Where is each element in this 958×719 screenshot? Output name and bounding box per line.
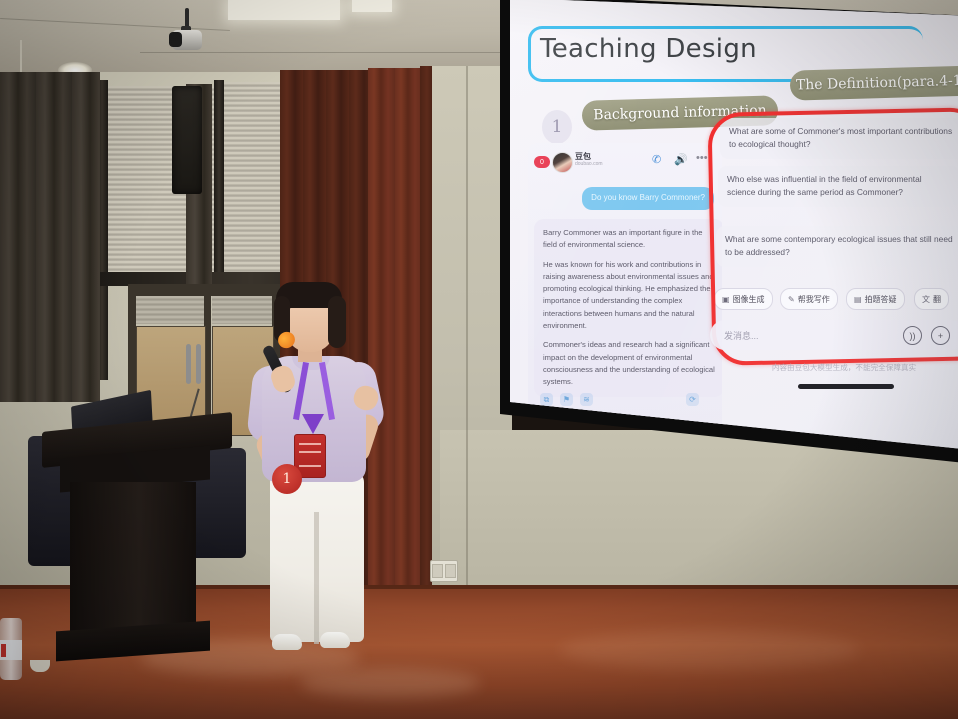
step-number-badge: 1 <box>542 110 572 144</box>
floor-reflection <box>560 630 860 670</box>
projection-screen: Teaching Design 1 Background information… <box>496 0 958 474</box>
screen-surface: Teaching Design 1 Background information… <box>510 0 958 460</box>
thumbs-up-icon[interactable]: ⚑ <box>560 393 573 406</box>
bot-subtitle: doubao.com <box>575 161 603 167</box>
lecture-hall-photo: Teaching Design 1 Background information… <box>0 0 958 719</box>
ai-disclaimer: 内容由豆包大模型生成，不能完全保障真实 <box>724 362 958 373</box>
message-action-bar: ⧉ ⚑ ≋ ⟳ <box>540 393 710 409</box>
wall-seam <box>466 66 468 606</box>
translate-icon: 文 <box>922 294 930 305</box>
tool-button-label: 图像生成 <box>733 294 765 305</box>
power-outlet[interactable] <box>430 560 458 582</box>
wall-speaker <box>172 86 202 194</box>
suggested-question-card[interactable]: Who else was influential in the field of… <box>718 166 958 207</box>
presenter-shoe <box>272 634 302 650</box>
user-message-bubble: Do you know Barry Commoner? <box>582 187 714 210</box>
cup <box>30 660 50 672</box>
chat-header: 0 豆包 doubao.com ✆ 🔊 ••• <box>528 149 722 175</box>
number-badge: 1 <box>272 464 302 494</box>
photo-question-button[interactable]: ▤ 拍题答疑 <box>846 288 905 310</box>
bot-paragraph: He was known for his work and contributi… <box>543 259 715 333</box>
door-handle[interactable] <box>196 344 201 384</box>
pill-the-definition: The Definition(para.4-18) <box>790 65 958 100</box>
presenter-shoe <box>320 632 350 648</box>
message-input-bar[interactable]: 发消息... )) + <box>710 320 958 350</box>
suggested-question-card[interactable]: What are some contemporary ecological is… <box>716 226 958 267</box>
add-attachment-icon[interactable]: + <box>931 326 950 345</box>
title-accent-border-extension <box>914 0 958 39</box>
voice-input-icon[interactable]: )) <box>903 326 922 345</box>
avatar <box>552 152 573 173</box>
share-icon[interactable]: ≋ <box>580 393 593 406</box>
photo-question-icon: ▤ <box>854 295 862 304</box>
writing-help-icon: ✎ <box>788 295 795 304</box>
suggested-question-card[interactable]: What are some of Commoner's most importa… <box>720 118 958 159</box>
tool-button-label: 帮我写作 <box>798 294 830 305</box>
bot-message-bubble: Barry Commoner was an important figure i… <box>534 219 722 397</box>
bot-paragraph: Commoner's ideas and research had a sign… <box>543 339 715 388</box>
copy-icon[interactable]: ⧉ <box>540 393 553 406</box>
window-curtain <box>0 72 100 402</box>
image-generate-button[interactable]: ▣ 图像生成 <box>714 288 773 310</box>
window-mullion <box>214 80 224 286</box>
image-generate-icon: ▣ <box>722 295 730 304</box>
back-badge[interactable]: 0 <box>534 156 550 168</box>
podium <box>42 398 232 663</box>
message-input-placeholder: 发消息... <box>724 329 759 342</box>
water-bottle <box>0 618 22 680</box>
tool-button-label: 翻 <box>933 294 941 305</box>
ceiling-camera <box>168 8 208 64</box>
door-handle[interactable] <box>186 344 191 384</box>
presenter: 1 <box>236 282 406 680</box>
tool-button-label: 拍题答疑 <box>865 294 897 305</box>
more-icon[interactable]: ••• <box>696 152 708 164</box>
tool-button-row: ▣ 图像生成 ✎ 帮我写作 ▤ 拍题答疑 文 翻 <box>714 288 958 310</box>
bot-paragraph: Barry Commoner was an important figure i… <box>543 227 715 252</box>
phone-icon[interactable]: ✆ <box>652 153 661 166</box>
door-glass <box>136 296 204 324</box>
chat-panel: 0 豆包 doubao.com ✆ 🔊 ••• Do you know Barr… <box>528 143 722 433</box>
translate-button[interactable]: 文 翻 <box>914 288 949 310</box>
ceiling-light-panel <box>228 0 340 20</box>
ceiling-light-panel <box>352 0 392 12</box>
speaker-icon[interactable]: 🔊 <box>674 153 688 166</box>
regenerate-icon[interactable]: ⟳ <box>686 393 699 406</box>
slide-content: Teaching Design 1 Background information… <box>510 0 958 450</box>
page-title: Teaching Design <box>540 34 757 64</box>
home-indicator <box>798 384 894 389</box>
writing-help-button[interactable]: ✎ 帮我写作 <box>780 288 838 310</box>
